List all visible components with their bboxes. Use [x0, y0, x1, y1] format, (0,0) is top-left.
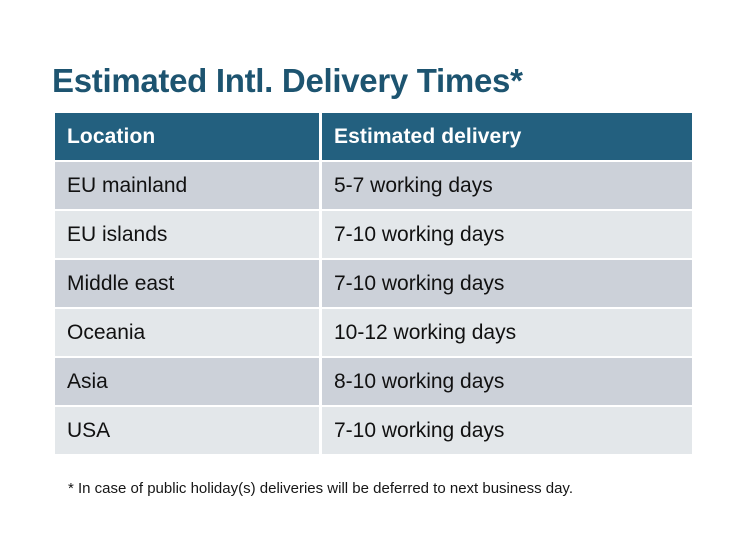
page-title: Estimated Intl. Delivery Times*	[52, 59, 523, 103]
table-row: EU islands 7-10 working days	[55, 211, 692, 258]
cell-location: Middle east	[55, 260, 319, 307]
cell-delivery: 7-10 working days	[322, 407, 692, 454]
cell-location: EU islands	[55, 211, 319, 258]
table-row: EU mainland 5-7 working days	[55, 162, 692, 209]
cell-delivery: 7-10 working days	[322, 260, 692, 307]
delivery-times-card: Estimated Intl. Delivery Times* Location…	[0, 0, 745, 536]
table-header-row: Location Estimated delivery	[55, 113, 692, 160]
cell-location: Asia	[55, 358, 319, 405]
table-header: Location Estimated delivery	[55, 113, 692, 160]
cell-delivery: 10-12 working days	[322, 309, 692, 356]
table-row: USA 7-10 working days	[55, 407, 692, 454]
table-row: Oceania 10-12 working days	[55, 309, 692, 356]
table-body: EU mainland 5-7 working days EU islands …	[55, 162, 692, 454]
estimated-delivery-table: Location Estimated delivery EU mainland …	[52, 111, 695, 456]
cell-location: USA	[55, 407, 319, 454]
cell-delivery: 7-10 working days	[322, 211, 692, 258]
table-row: Middle east 7-10 working days	[55, 260, 692, 307]
cell-location: EU mainland	[55, 162, 319, 209]
cell-location: Oceania	[55, 309, 319, 356]
table-row: Asia 8-10 working days	[55, 358, 692, 405]
cell-delivery: 8-10 working days	[322, 358, 692, 405]
column-header-location: Location	[55, 113, 319, 160]
cell-delivery: 5-7 working days	[322, 162, 692, 209]
column-header-estimated-delivery: Estimated delivery	[322, 113, 692, 160]
footnote-text: * In case of public holiday(s) deliverie…	[68, 479, 573, 499]
